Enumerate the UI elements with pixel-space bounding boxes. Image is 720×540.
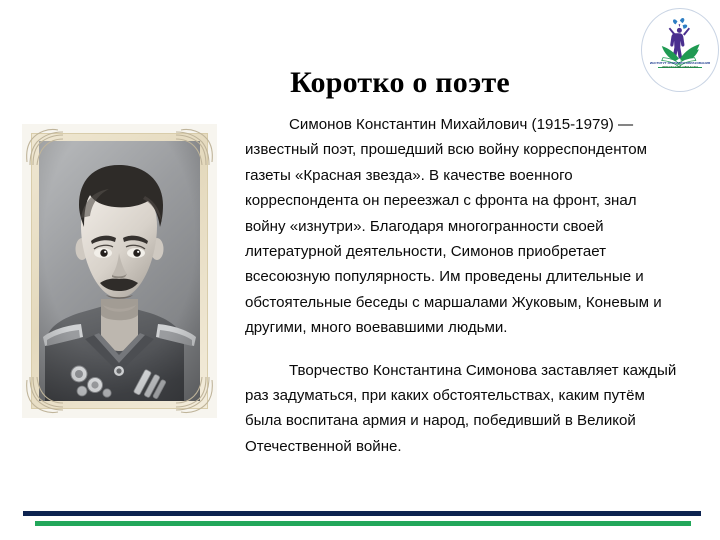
logo-emblem-icon xyxy=(641,8,719,92)
footer-bar-green xyxy=(35,521,691,526)
portrait-photo-frame xyxy=(22,124,217,418)
portrait-photo xyxy=(39,141,200,401)
footer-bar-navy xyxy=(23,511,701,516)
logo-caption: ИНСТИТУТ РАЗВИТИЯ ОБРАЗОВАНИЯ ИРКУТСКОЙ … xyxy=(646,61,714,70)
institute-logo: ИНСТИТУТ РАЗВИТИЯ ОБРАЗОВАНИЯ ИРКУТСКОЙ … xyxy=(641,8,719,92)
paragraph-biography: Симонов Константин Михайлович (1915-1979… xyxy=(245,112,677,341)
paragraph-legacy: Творчество Константина Симонова заставля… xyxy=(245,358,677,460)
page-title: Коротко о поэте xyxy=(180,66,620,100)
body-text-column: Симонов Константин Михайлович (1915-1979… xyxy=(245,112,677,459)
slide-canvas: ИНСТИТУТ РАЗВИТИЯ ОБРАЗОВАНИЯ ИРКУТСКОЙ … xyxy=(0,0,720,540)
logo-caption-line2: ИРКУТСКОЙ ОБЛАСТИ xyxy=(646,65,714,69)
